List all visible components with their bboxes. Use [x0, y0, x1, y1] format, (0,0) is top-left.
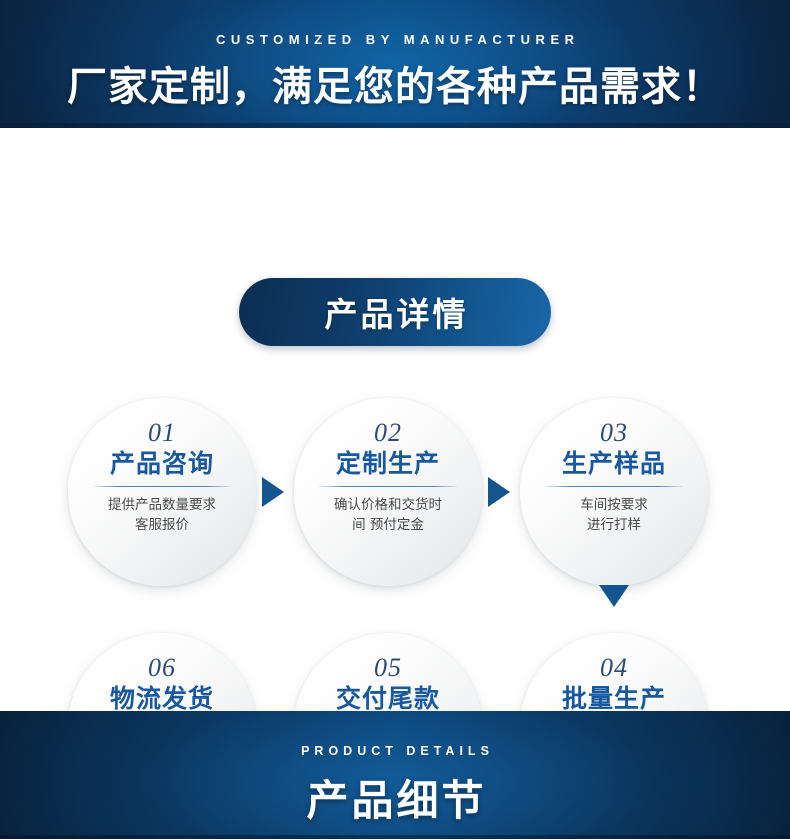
header-title-text: 厂家定制，满足您的各种产品需求！ — [0, 54, 790, 112]
arrow-down-icon-step3-to-step4 — [599, 585, 629, 607]
header-eyebrow-text: CUSTOMIZED BY MANUFACTURER — [0, 32, 790, 47]
step-title-03: 生产样品 — [562, 450, 666, 479]
step-divider-02 — [319, 486, 457, 487]
footer-eyebrow-text: PRODUCT DETAILS — [0, 744, 790, 758]
step-number-03: 03 — [600, 420, 628, 446]
header-banner: CUSTOMIZED BY MANUFACTURER 厂家定制，满足您的各种产品… — [0, 0, 790, 128]
section-title-badge: 产品详情 — [239, 278, 551, 346]
process-step-03: 03 生产样品 车间按要求 进行打样 — [520, 398, 708, 586]
step-divider-03 — [545, 486, 683, 487]
step-description-03: 车间按要求 进行打样 — [539, 495, 689, 536]
section-title-label: 产品详情 — [322, 288, 469, 336]
footer-banner: PRODUCT DETAILS 产品细节 — [0, 711, 790, 839]
step-title-01: 产品咨询 — [110, 450, 214, 479]
step-number-06: 06 — [148, 655, 176, 681]
step-number-04: 04 — [600, 655, 628, 681]
step-number-01: 01 — [148, 420, 176, 446]
arrow-right-icon-step1-to-step2 — [262, 477, 284, 507]
step-title-04: 批量生产 — [562, 685, 666, 714]
step-title-06: 物流发货 — [110, 685, 214, 714]
step-number-02: 02 — [374, 420, 402, 446]
step-description-01: 提供产品数量要求 客服报价 — [87, 495, 237, 536]
footer-title-text: 产品细节 — [0, 767, 790, 828]
step-number-05: 05 — [374, 655, 402, 681]
process-step-01: 01 产品咨询 提供产品数量要求 客服报价 — [68, 398, 256, 586]
step-description-02: 确认价格和交货时 间 预付定金 — [313, 495, 463, 536]
step-title-02: 定制生产 — [336, 450, 440, 479]
arrow-right-icon-step2-to-step3 — [488, 477, 510, 507]
product-detail-page: CUSTOMIZED BY MANUFACTURER 厂家定制，满足您的各种产品… — [0, 0, 790, 839]
flow-section: 产品详情 01 产品咨询 提供产品数量要求 客服报价 02 定制生产 确认价格和… — [0, 128, 790, 711]
step-divider-01 — [93, 486, 231, 487]
process-step-02: 02 定制生产 确认价格和交货时 间 预付定金 — [294, 398, 482, 586]
step-title-05: 交付尾款 — [336, 685, 440, 714]
